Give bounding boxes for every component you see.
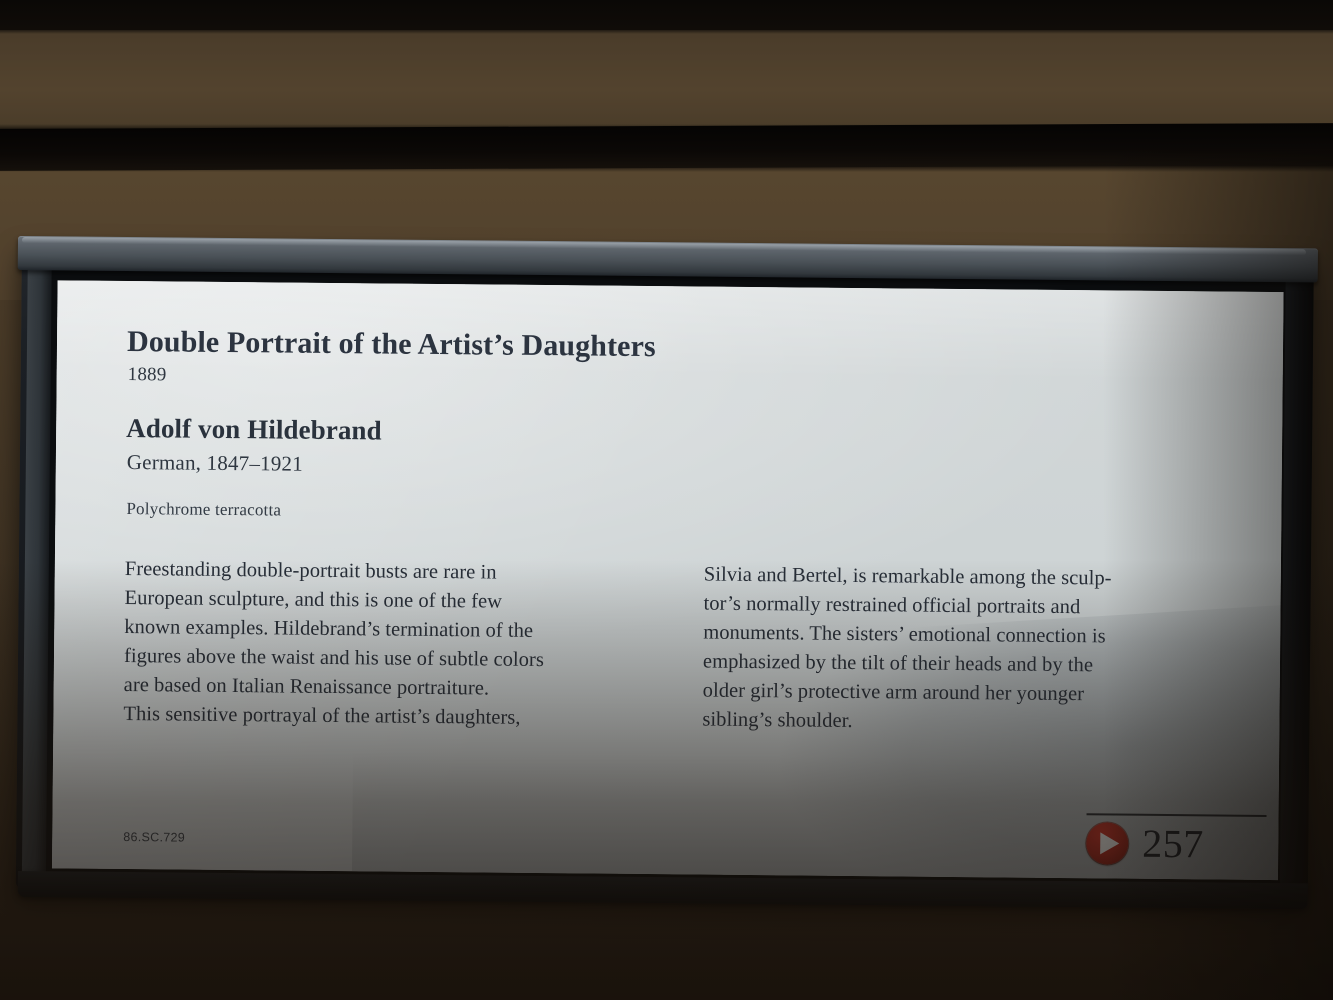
artist-name: Adolf von Hildebrand [126, 413, 1254, 455]
photo-scene: Double Portrait of the Artist’s Daughter… [0, 0, 1333, 1000]
artwork-medium: Polychrome terracotta [126, 499, 1253, 530]
artwork-date: 1889 [128, 364, 1255, 397]
wall-band-upper [0, 0, 1333, 30]
artist-nationality-dates: German, 1847–1921 [127, 450, 1254, 486]
wall-right-shading [1103, 150, 1333, 1000]
